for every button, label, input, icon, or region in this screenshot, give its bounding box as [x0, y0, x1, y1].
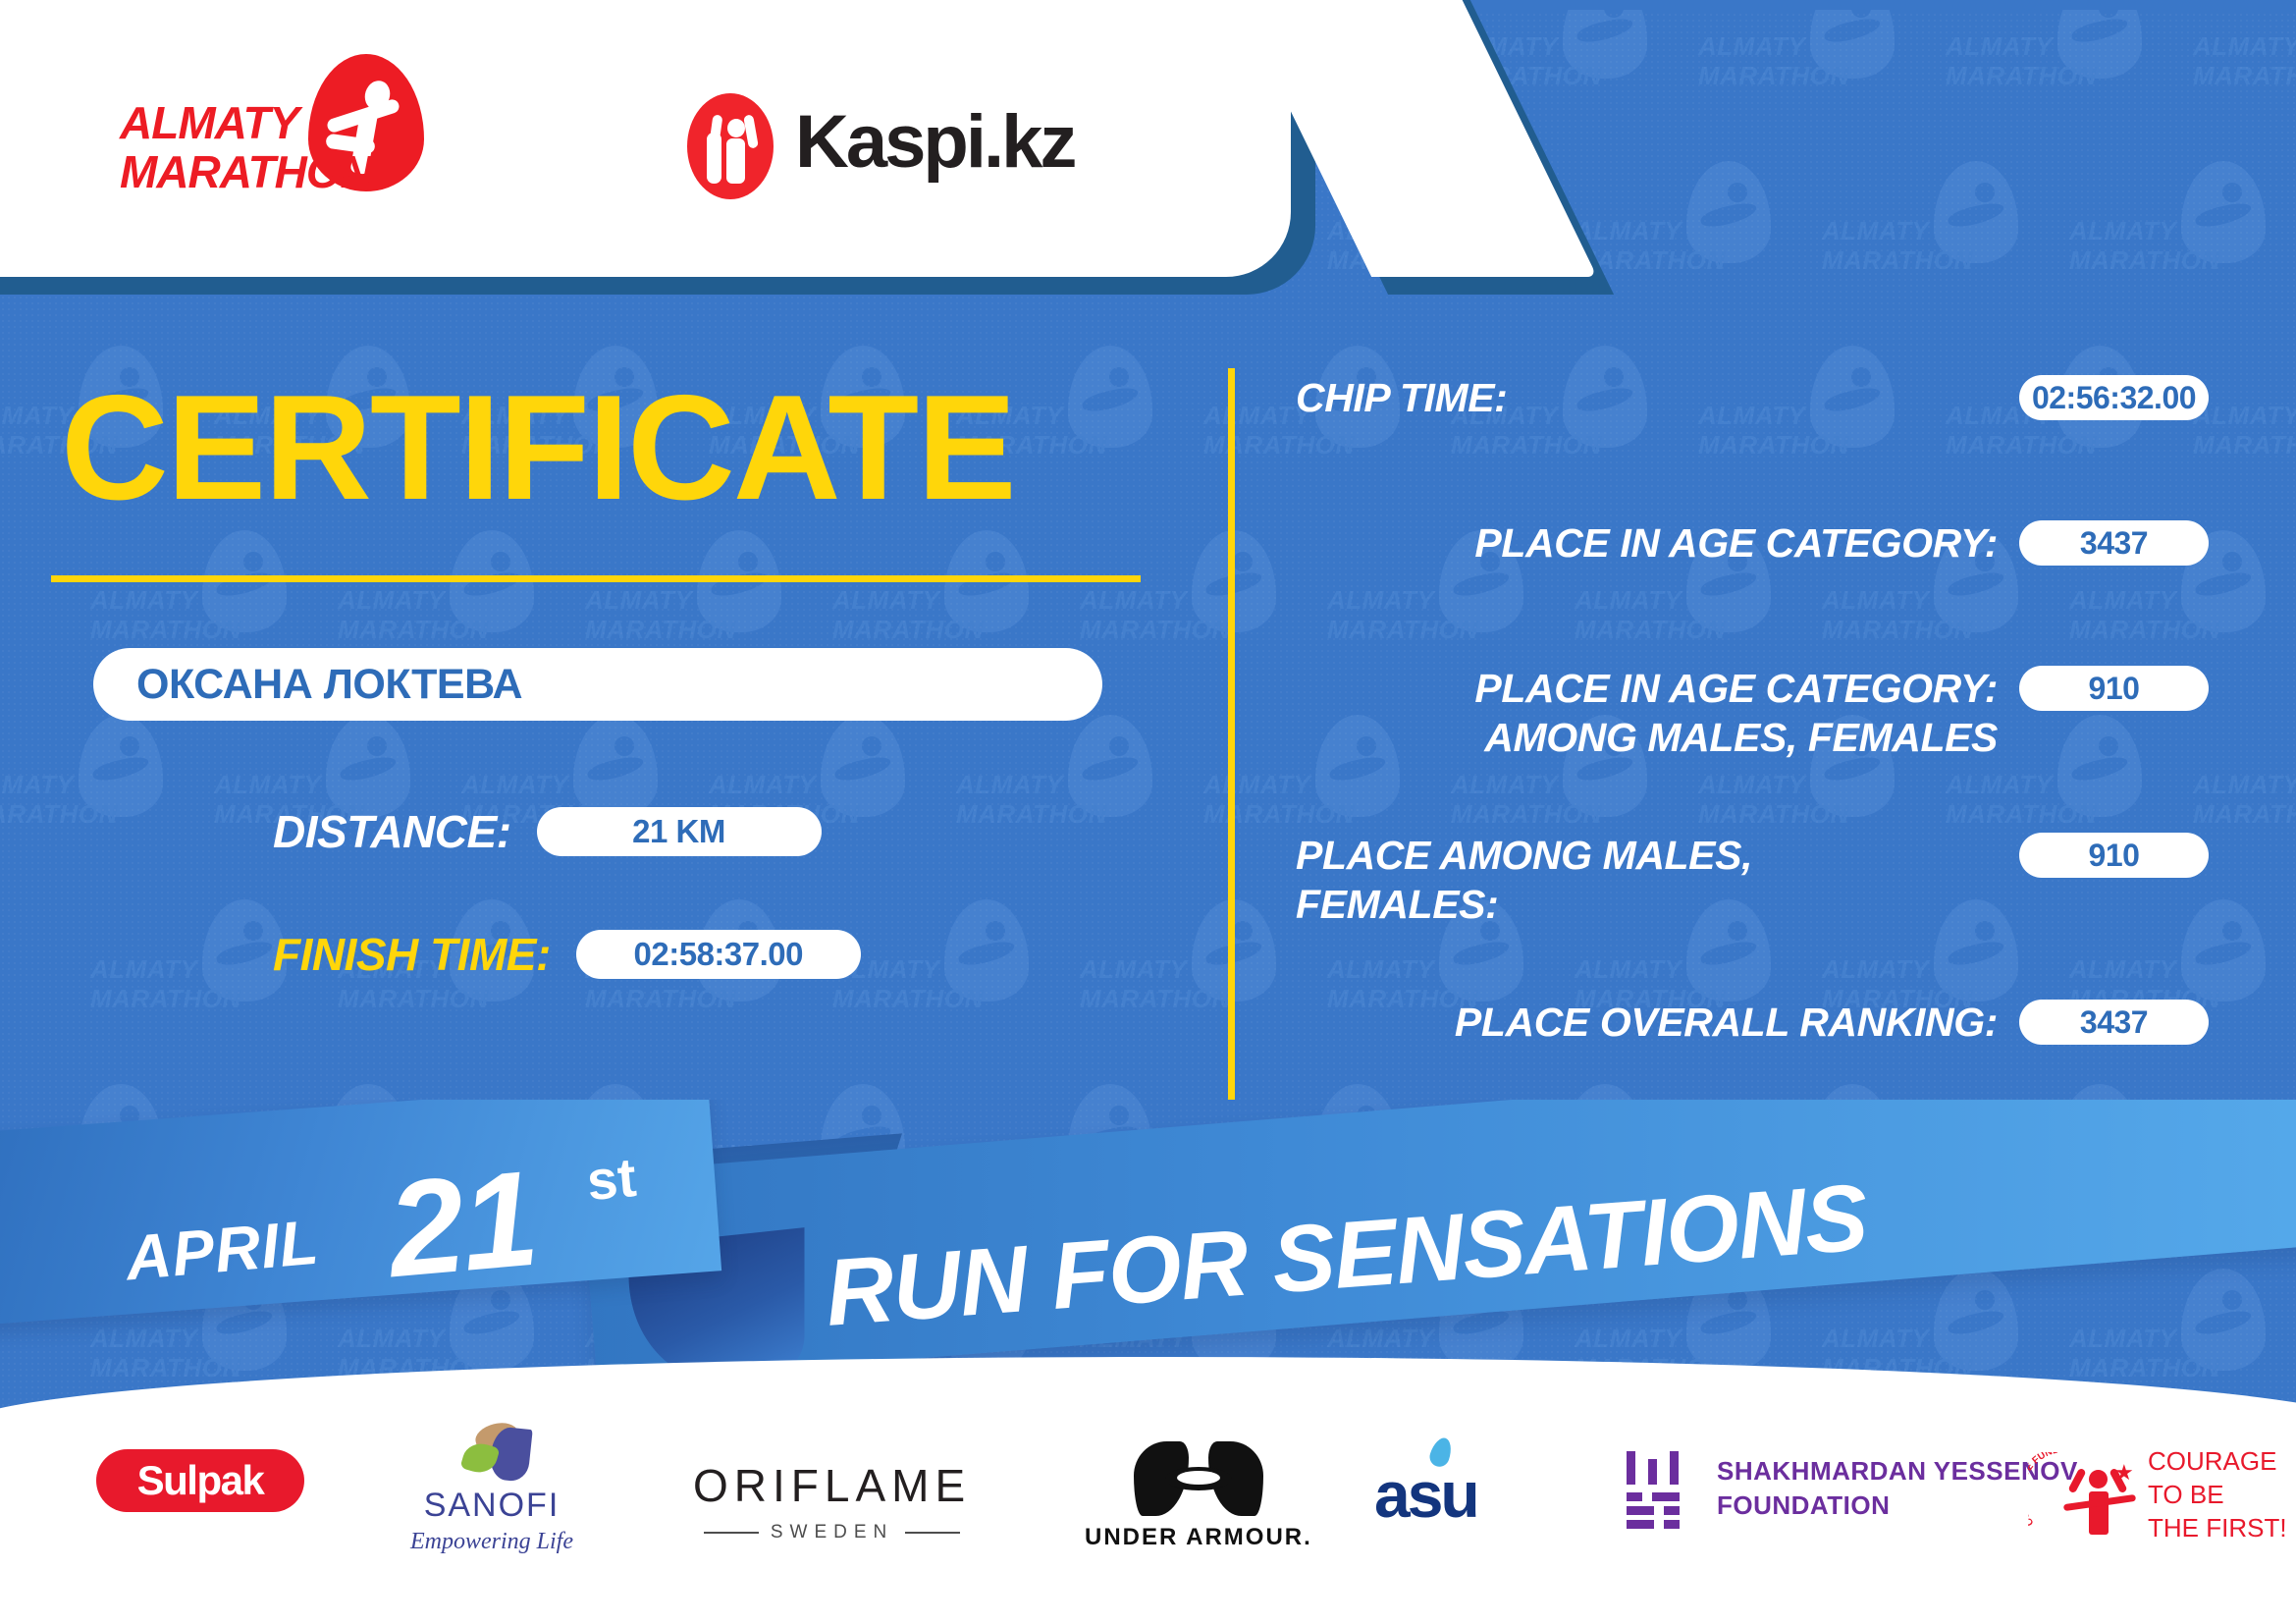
distance-value: 21 KM [632, 813, 725, 850]
watermark-drop-icon [450, 1269, 534, 1371]
watermark-drop-icon [1068, 346, 1152, 448]
yessenov-bar-9 [1664, 1520, 1680, 1529]
watermark-tile: ALMATYMARATHON [2187, 0, 2296, 155]
watermark-drop-icon [1315, 1084, 1400, 1186]
asu-wordmark: asu [1374, 1457, 1477, 1532]
watermark-line1: ALMATY [956, 1139, 1063, 1169]
stat-label-place-among-males-females: PLACE AMONG MALES, FEMALES: [1296, 831, 1998, 929]
athlete-name-field: ОКСАНА ЛОКТЕВА [93, 648, 1102, 721]
watermark-line2: MARATHON [1451, 1168, 1602, 1199]
distance-label: DISTANCE: [273, 805, 511, 858]
stat-row-place-among-males-females: PLACE AMONG MALES, FEMALES: 910 [1296, 831, 2209, 929]
watermark-drop-icon [2057, 1084, 2142, 1186]
watermark-line1: ALMATY [214, 770, 321, 800]
kaspi-logo: Kaspi.kz [687, 93, 1099, 201]
watermark-line1: ALMATY [338, 1324, 445, 1354]
yessenov-icon [1625, 1451, 1695, 1526]
watermark-line1: ALMATY [90, 954, 197, 985]
watermark-drop-icon [1068, 1084, 1152, 1186]
watermark-line2: MARATHON [1698, 430, 1849, 460]
watermark-line2: MARATHON [956, 1168, 1107, 1199]
watermark-line2: MARATHON [1451, 430, 1602, 460]
watermark-line1: ALMATY [709, 1139, 816, 1169]
yessenov-bar-1 [1627, 1451, 1635, 1485]
yessenov-line2: FOUNDATION [1717, 1489, 2078, 1523]
kaspi-small-figure-icon [707, 133, 721, 184]
almaty-marathon-logo: ALMATY MARATHON [120, 54, 444, 191]
watermark-drop-icon [1934, 161, 2018, 263]
watermark-line2: MARATHON [338, 984, 489, 1014]
oriflame-subline: SWEDEN [704, 1522, 960, 1543]
courage-line2: TO BE [2148, 1479, 2287, 1512]
ua-hole-icon [1177, 1471, 1220, 1485]
kaspi-wordmark: Kaspi.kz [795, 99, 1074, 185]
stat-value-chip-time: 02:56:32.00 [2032, 380, 2196, 416]
watermark-tile: ALMATYMARATHON [950, 709, 1198, 893]
watermark-drop-icon [1192, 1269, 1276, 1371]
watermark-line2: MARATHON [1698, 799, 1849, 830]
watermark-line2: MARATHON [1946, 430, 2097, 460]
watermark-line2: MARATHON [1575, 1353, 1726, 1383]
stat-label-place-age-category-among: PLACE IN AGE CATEGORY: AMONG MALES, FEMA… [1296, 664, 1998, 762]
watermark-line2: MARATHON [2193, 1168, 2296, 1199]
watermark-tile: ALMATYMARATHON [703, 1078, 950, 1263]
kaspi-figures-icon [687, 93, 774, 199]
sponsor-yessenov-foundation: SHAKHMARDAN YESSENOV FOUNDATION [1625, 1451, 2078, 1526]
under-armour-wordmark: UNDER ARMOUR. [1085, 1524, 1312, 1551]
finish-time-value-pill: 02:58:37.00 [576, 930, 861, 979]
watermark-line1: ALMATY [1698, 770, 1805, 800]
watermark-line1: ALMATY [214, 1139, 321, 1169]
watermark-tile: ALMATYMARATHON [455, 1078, 703, 1263]
watermark-line2: MARATHON [709, 1168, 860, 1199]
watermark-line2: MARATHON [461, 1168, 613, 1199]
watermark-line1: ALMATY [1451, 1139, 1558, 1169]
sulpak-logo: Sulpak [96, 1449, 304, 1512]
watermark-line2: MARATHON [1203, 430, 1355, 460]
watermark-line2: MARATHON [585, 984, 736, 1014]
watermark-line1: ALMATY [1327, 585, 1434, 616]
watermark-drop-icon [1686, 1269, 1771, 1371]
stat-label-place-age-category-among-line2: AMONG MALES, FEMALES [1484, 715, 1998, 760]
svg-text:CORPORATE FUND: CORPORATE FUND [2028, 1452, 2060, 1528]
watermark-line2: MARATHON [1946, 1168, 2097, 1199]
watermark-line2: MARATHON [1203, 799, 1355, 830]
watermark-line2: MARATHON [2193, 430, 2296, 460]
watermark-tile: ALMATYMARATHON [0, 709, 208, 893]
watermark-tile: ALMATYMARATHON [2187, 1078, 2296, 1263]
stat-value-place-age-category-among: 910 [2089, 671, 2140, 707]
stat-row-place-age-category: PLACE IN AGE CATEGORY: 3437 [1296, 518, 2209, 568]
stat-label-place-age-category: PLACE IN AGE CATEGORY: [1296, 518, 1998, 568]
watermark-tile: ALMATYMARATHON [1074, 1263, 1321, 1414]
watermark-line2: MARATHON [1822, 245, 1973, 276]
watermark-tile: ALMATYMARATHON [1692, 1078, 1940, 1263]
watermark-line2: MARATHON [1575, 615, 1726, 645]
watermark-line2: MARATHON [90, 1353, 241, 1383]
watermark-tile: ALMATYMARATHON [208, 709, 455, 893]
watermark-line1: ALMATY [461, 770, 568, 800]
courage-fund-icon: CORPORATE FUND ★ [2032, 1450, 2134, 1541]
watermark-line1: ALMATY [2069, 585, 2176, 616]
watermark-line2: MARATHON [1946, 61, 2097, 91]
sponsor-sulpak: Sulpak [96, 1449, 304, 1512]
sponsor-bar: Sulpak SANOFI Empowering Life ORIFLAME S… [0, 1414, 2296, 1624]
sulpak-wordmark: Sulpak [137, 1457, 264, 1504]
watermark-line1: ALMATY [2193, 31, 2296, 62]
oriflame-wordmark: ORIFLAME [693, 1459, 971, 1512]
watermark-line2: MARATHON [214, 1168, 365, 1199]
stat-value-place-overall-ranking: 3437 [2080, 1004, 2148, 1041]
watermark-line2: MARATHON [1080, 1353, 1231, 1383]
watermark-tile: ALMATYMARATHON [1445, 340, 1692, 524]
watermark-tile: ALMATYMARATHON [1321, 1263, 1569, 1414]
watermark-line2: MARATHON [1327, 615, 1478, 645]
courage-line3: THE FIRST! [2148, 1512, 2287, 1545]
stat-pill-place-age-category-among: 910 [2019, 666, 2209, 711]
watermark-line2: MARATHON [338, 615, 489, 645]
sponsor-under-armour: UNDER ARMOUR. [1085, 1441, 1312, 1551]
stat-row-chip-time: CHIP TIME: 02:56:32.00 [1296, 373, 2209, 422]
watermark-line1: ALMATY [2193, 1139, 2296, 1169]
watermark-line1: ALMATY [1203, 401, 1310, 431]
watermark-tile: ALMATYMARATHON [1569, 1263, 1816, 1414]
watermark-tile: ALMATYMARATHON [827, 893, 1074, 1078]
kaspi-arm-right-icon [743, 114, 759, 148]
watermark-line2: MARATHON [956, 799, 1107, 830]
watermark-tile: ALMATYMARATHON [827, 1263, 1074, 1414]
watermark-line1: ALMATY [585, 585, 692, 616]
watermark-line1: ALMATY [1946, 1139, 2053, 1169]
finish-time-value: 02:58:37.00 [634, 936, 803, 973]
watermark-tile: ALMATYMARATHON [1940, 0, 2187, 155]
watermark-line1: ALMATY [2069, 1324, 2176, 1354]
watermark-tile: ALMATYMARATHON [84, 1263, 332, 1414]
sanofi-icon [450, 1424, 534, 1481]
watermark-line2: MARATHON [2193, 61, 2296, 91]
watermark-drop-icon [944, 1269, 1029, 1371]
watermark-line1: ALMATY [1822, 585, 1929, 616]
watermark-tile: ALMATYMARATHON [2063, 1263, 2296, 1414]
watermark-drop-icon [573, 715, 658, 817]
watermark-line2: MARATHON [2069, 615, 2220, 645]
watermark-tile: ALMATYMARATHON [1198, 1078, 1445, 1263]
watermark-line1: ALMATY [2193, 770, 2296, 800]
watermark-tile: ALMATYMARATHON [2063, 155, 2296, 340]
distance-row: DISTANCE: 21 KM [273, 805, 822, 858]
watermark-tile: ALMATYMARATHON [1692, 340, 1940, 524]
watermark-line1: ALMATY [1327, 954, 1434, 985]
stat-value-place-among-males-females: 910 [2089, 838, 2140, 874]
watermark-line1: ALMATY [0, 770, 74, 800]
watermark-line2: MARATHON [1698, 1168, 1849, 1199]
watermark-tile: ALMATYMARATHON [1074, 524, 1321, 709]
watermark-drop-icon [2057, 0, 2142, 79]
stat-pill-chip-time: 02:56:32.00 [2019, 375, 2209, 420]
watermark-line1: ALMATY [0, 1139, 74, 1169]
watermark-drop-icon [2181, 1269, 2266, 1371]
watermark-line1: ALMATY [1203, 770, 1310, 800]
stat-label-place-among-males-females-line2: FEMALES: [1296, 882, 1498, 927]
athlete-name-value: ОКСАНА ЛОКТЕВА [136, 661, 522, 709]
watermark-drop-icon [202, 1269, 287, 1371]
watermark-line1: ALMATY [1080, 954, 1187, 985]
courage-line1: COURAGE [2148, 1445, 2287, 1479]
yessenov-bar-2 [1648, 1459, 1657, 1485]
watermark-line1: ALMATY [832, 1324, 939, 1354]
watermark-line2: MARATHON [585, 1353, 736, 1383]
watermark-line1: ALMATY [1080, 585, 1187, 616]
watermark-line1: ALMATY [338, 585, 445, 616]
watermark-tile: ALMATYMARATHON [2187, 340, 2296, 524]
watermark-tile: ALMATYMARATHON [84, 893, 332, 1078]
almaty-logo-line2: MARATHON [120, 145, 372, 198]
yessenov-bar-6 [1627, 1506, 1654, 1515]
asu-wordmark-text: asu [1374, 1458, 1477, 1531]
yessenov-bar-5 [1652, 1492, 1680, 1501]
courage-runner-icon: ★ [2071, 1464, 2128, 1537]
watermark-tile: ALMATYMARATHON [1940, 1078, 2187, 1263]
sponsor-courage-fund: CORPORATE FUND ★ COURAGE TO BE THE FIRST… [2032, 1445, 2287, 1544]
watermark-drop-icon [2181, 161, 2266, 263]
watermark-drop-icon [944, 899, 1029, 1001]
stat-label-place-age-category-line1: PLACE IN AGE CATEGORY: [1474, 520, 1998, 566]
watermark-tile: ALMATYMARATHON [1816, 155, 2063, 340]
under-armour-icon [1134, 1441, 1263, 1516]
oriflame-country: SWEDEN [771, 1522, 893, 1543]
stat-label-place-age-category-among-line1: PLACE IN AGE CATEGORY: [1474, 666, 1998, 711]
courage-head-icon [2089, 1470, 2108, 1489]
courage-arm-left-icon [2067, 1467, 2086, 1493]
watermark-line1: ALMATY [1698, 31, 1805, 62]
watermark-tile: ALMATYMARATHON [332, 1263, 579, 1414]
watermark-line1: ALMATY [1080, 1324, 1187, 1354]
kaspi-head-icon [727, 119, 745, 137]
watermark-line1: ALMATY [1698, 1139, 1805, 1169]
page-title: CERTIFICATE [61, 373, 1015, 522]
certificate-canvas: ALMATYMARATHONALMATYMARATHONALMATYMARATH… [0, 0, 2296, 1624]
watermark-line2: MARATHON [1822, 615, 1973, 645]
watermark-line2: MARATHON [1822, 1353, 1973, 1383]
watermark-line1: ALMATY [1822, 216, 1929, 246]
watermark-line2: MARATHON [2069, 1353, 2220, 1383]
watermark-drop-icon [1810, 1084, 1895, 1186]
watermark-line1: ALMATY [1575, 585, 1682, 616]
watermark-line1: ALMATY [2069, 216, 2176, 246]
watermark-tile: ALMATYMARATHON [208, 1078, 455, 1263]
watermark-line1: ALMATY [1946, 770, 2053, 800]
watermark-tile: ALMATYMARATHON [1940, 340, 2187, 524]
watermark-line1: ALMATY [585, 1324, 692, 1354]
stat-label-place-among-males-females-line1: PLACE AMONG MALES, [1296, 833, 1752, 878]
watermark-drop-icon [1934, 1269, 2018, 1371]
watermark-line1: ALMATY [1822, 954, 1929, 985]
yessenov-bar-7 [1664, 1506, 1680, 1515]
stat-row-place-age-category-among: PLACE IN AGE CATEGORY: AMONG MALES, FEMA… [1296, 664, 2209, 762]
watermark-line2: MARATHON [0, 1168, 118, 1199]
watermark-tile: ALMATYMARATHON [1692, 0, 1940, 155]
watermark-drop-icon [573, 1084, 658, 1186]
watermark-line2: MARATHON [90, 984, 241, 1014]
sponsor-oriflame: ORIFLAME SWEDEN [693, 1459, 971, 1543]
watermark-tile: ALMATYMARATHON [579, 1263, 827, 1414]
stat-label-place-overall-ranking: PLACE OVERALL RANKING: [1296, 998, 1998, 1047]
watermark-drop-icon [326, 715, 410, 817]
courage-wordmark: COURAGE TO BE THE FIRST! [2148, 1445, 2287, 1544]
watermark-drop-icon [1810, 0, 1895, 79]
watermark-line2: MARATHON [832, 1353, 984, 1383]
watermark-line2: MARATHON [2193, 799, 2296, 830]
watermark-line2: MARATHON [1327, 1353, 1478, 1383]
sanofi-tagline: Empowering Life [410, 1529, 573, 1555]
watermark-line2: MARATHON [832, 615, 984, 645]
watermark-line1: ALMATY [1203, 1139, 1310, 1169]
watermark-line2: MARATHON [90, 615, 241, 645]
watermark-line2: MARATHON [1451, 799, 1602, 830]
watermark-drop-icon [1563, 0, 1647, 79]
watermark-tile: ALMATYMARATHON [0, 1078, 208, 1263]
watermark-line1: ALMATY [709, 770, 816, 800]
stat-value-place-age-category: 3437 [2080, 525, 2148, 562]
watermark-line2: MARATHON [0, 799, 118, 830]
watermark-drop-icon [821, 1084, 905, 1186]
watermark-line1: ALMATY [1575, 954, 1682, 985]
watermark-line2: MARATHON [1698, 61, 1849, 91]
almaty-logo-line1: ALMATY [120, 96, 298, 149]
watermark-line1: ALMATY [956, 770, 1063, 800]
watermark-drop-icon [79, 1084, 163, 1186]
finish-time-row: FINISH TIME: 02:58:37.00 [273, 928, 861, 981]
watermark-line1: ALMATY [2069, 954, 2176, 985]
watermark-line2: MARATHON [1946, 799, 2097, 830]
stat-pill-place-age-category: 3437 [2019, 520, 2209, 566]
watermark-drop-icon [1068, 715, 1152, 817]
distance-value-pill: 21 KM [537, 807, 822, 856]
sponsor-asu: asu [1374, 1457, 1477, 1532]
watermark-line2: MARATHON [832, 984, 984, 1014]
watermark-line2: MARATHON [1203, 1168, 1355, 1199]
watermark-line1: ALMATY [1575, 1324, 1682, 1354]
watermark-line1: ALMATY [1575, 216, 1682, 246]
watermark-tile: ALMATYMARATHON [455, 709, 703, 893]
yessenov-bar-8 [1627, 1520, 1654, 1529]
watermark-line1: ALMATY [1946, 31, 2053, 62]
watermark-drop-icon [821, 715, 905, 817]
oriflame-rule-right [905, 1532, 960, 1534]
stat-pill-place-among-males-females: 910 [2019, 833, 2209, 878]
watermark-line1: ALMATY [1451, 770, 1558, 800]
watermark-line1: ALMATY [832, 585, 939, 616]
watermark-line1: ALMATY [461, 1139, 568, 1169]
watermark-tile: ALMATYMARATHON [579, 893, 827, 1078]
watermark-drop-icon [1439, 1269, 1523, 1371]
yessenov-bar-3 [1670, 1451, 1679, 1485]
watermark-tile: ALMATYMARATHON [1816, 1263, 2063, 1414]
watermark-tile: ALMATYMARATHON [1569, 155, 1816, 340]
watermark-line2: MARATHON [1080, 615, 1231, 645]
watermark-drop-icon [697, 1269, 781, 1371]
watermark-tile: ALMATYMARATHON [1074, 893, 1321, 1078]
watermark-line2: MARATHON [585, 615, 736, 645]
watermark-drop-icon [326, 1084, 410, 1186]
yessenov-line1: SHAKHMARDAN YESSENOV [1717, 1454, 2078, 1489]
stat-label-chip-time-line1: CHIP TIME: [1296, 375, 1507, 420]
sanofi-wordmark: SANOFI [424, 1487, 561, 1525]
kaspi-body-icon [726, 138, 745, 184]
watermark-line2: MARATHON [2069, 245, 2220, 276]
watermark-tile: ALMATYMARATHON [950, 1078, 1198, 1263]
vertical-divider [1228, 368, 1235, 1100]
watermark-line2: MARATHON [338, 1353, 489, 1383]
yessenov-wordmark: SHAKHMARDAN YESSENOV FOUNDATION [1717, 1454, 2078, 1523]
watermark-drop-icon [79, 715, 163, 817]
oriflame-rule-left [704, 1532, 759, 1534]
watermark-line1: ALMATY [90, 1324, 197, 1354]
stat-row-place-overall-ranking: PLACE OVERALL RANKING: 3437 [1296, 998, 2209, 1047]
watermark-tile: ALMATYMARATHON [1445, 1078, 1692, 1263]
sponsor-sanofi: SANOFI Empowering Life [410, 1424, 573, 1555]
yessenov-bar-4 [1627, 1492, 1642, 1501]
stat-pill-place-overall-ranking: 3437 [2019, 1000, 2209, 1045]
watermark-drop-icon [1563, 1084, 1647, 1186]
stat-label-place-overall-ranking-line1: PLACE OVERALL RANKING: [1455, 1000, 1998, 1045]
watermark-line1: ALMATY [1327, 1324, 1434, 1354]
watermark-line2: MARATHON [1080, 984, 1231, 1014]
finish-time-label: FINISH TIME: [273, 928, 551, 981]
watermark-tile: ALMATYMARATHON [332, 893, 579, 1078]
stat-label-chip-time: CHIP TIME: [1296, 373, 1998, 422]
watermark-drop-icon [1686, 161, 1771, 263]
watermark-line1: ALMATY [90, 585, 197, 616]
watermark-line1: ALMATY [1822, 1324, 1929, 1354]
title-underline [51, 575, 1141, 582]
watermark-tile: ALMATYMARATHON [703, 709, 950, 893]
